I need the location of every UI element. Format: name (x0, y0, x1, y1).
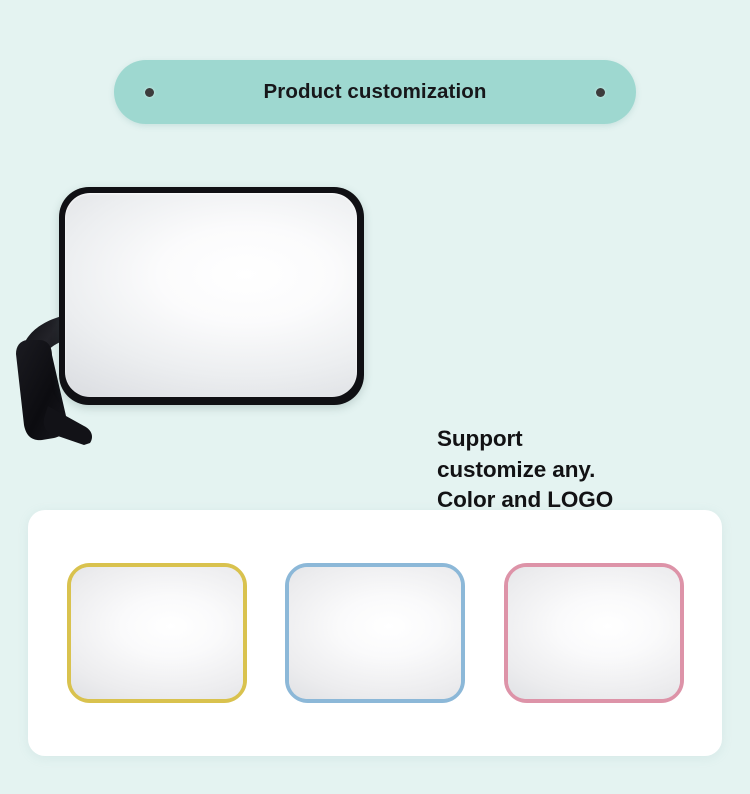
color-variant-pink[interactable] (504, 563, 684, 703)
headline-line-1: Support (437, 424, 717, 455)
product-mirror-main (59, 187, 364, 405)
variant-glass-surface (71, 567, 243, 699)
screw-dot-icon-left (145, 88, 154, 97)
variant-glass-surface (289, 567, 461, 699)
color-variant-blue[interactable] (285, 563, 465, 703)
hero-headline: Support customize any. Color and LOGO (437, 424, 717, 516)
variant-glass-surface (508, 567, 680, 699)
headline-line-2: customize any. (437, 455, 717, 486)
color-variant-card (28, 510, 722, 756)
mirror-glass-surface (65, 193, 357, 397)
banner-title: Product customization (263, 80, 486, 104)
hero-product-section: Support customize any. Color and LOGO (0, 175, 750, 475)
color-variant-yellow[interactable] (67, 563, 247, 703)
product-customization-banner: Product customization (114, 60, 636, 124)
screw-dot-icon-right (596, 88, 605, 97)
color-variant-list (28, 510, 722, 756)
